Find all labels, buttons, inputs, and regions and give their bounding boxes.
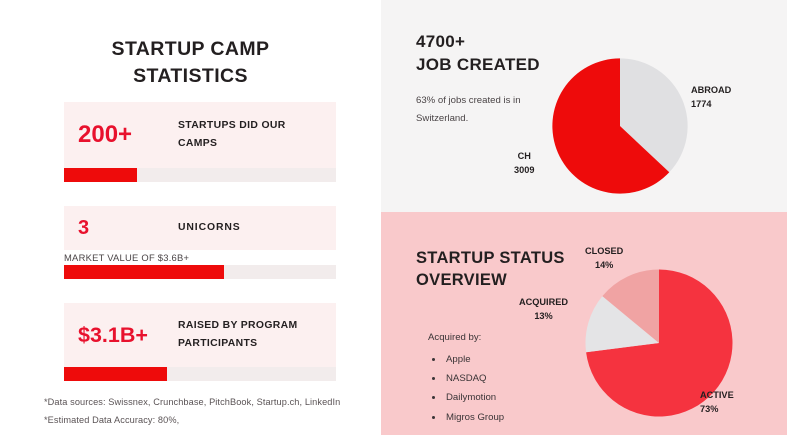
progress-fill-startups	[64, 168, 137, 182]
acquired-by-heading: Acquired by:	[428, 332, 481, 343]
pie-label-ch-name: CH	[514, 150, 534, 164]
page-title-line-2: STATISTICS	[0, 63, 381, 90]
startup-status-title-line-2: OVERVIEW	[416, 269, 565, 291]
startup-status-title: STARTUP STATUS OVERVIEW	[416, 247, 565, 292]
pie-svg-jobs	[551, 57, 689, 195]
progress-track-raised	[64, 367, 336, 381]
pie-label-acquired-value: 13%	[519, 310, 568, 324]
pie-label-acquired-name: ACQUIRED	[519, 296, 568, 310]
infographic-canvas: STARTUP CAMP STATISTICS 200+ STARTUPS DI…	[0, 0, 787, 435]
progress-fill-raised	[64, 367, 167, 381]
jobs-created-count: 4700+	[416, 31, 540, 54]
acquired-by-item: Apple	[444, 350, 504, 369]
pie-label-abroad-value: 1774	[691, 98, 731, 112]
progress-track-startups	[64, 168, 336, 182]
startup-status-title-line-1: STARTUP STATUS	[416, 247, 565, 269]
page-title: STARTUP CAMP STATISTICS	[0, 36, 381, 90]
pie-label-closed-name: CLOSED	[585, 245, 623, 259]
jobs-created-pie-chart	[551, 57, 689, 195]
left-panel: STARTUP CAMP STATISTICS 200+ STARTUPS DI…	[0, 0, 381, 435]
pie-label-ch: CH 3009	[514, 150, 534, 178]
acquired-by-item: Migros Group	[444, 408, 504, 427]
stat-value-startups: 200+	[78, 122, 178, 147]
acquired-by-item: Dailymotion	[444, 388, 504, 407]
stat-value-raised: $3.1B+	[78, 324, 178, 347]
stat-value-unicorns: 3	[78, 218, 178, 239]
stat-label-unicorns: UNICORNS	[178, 219, 241, 237]
pie-label-closed-value: 14%	[585, 259, 623, 273]
pie-label-closed: CLOSED 14%	[585, 245, 623, 273]
stat-card-startups: 200+ STARTUPS DID OUR CAMPS	[64, 102, 336, 168]
acquired-by-item: NASDAQ	[444, 369, 504, 388]
footnote-data-sources: *Data sources: Swissnex, Crunchbase, Pit…	[44, 394, 340, 412]
acquired-by-list: AppleNASDAQDailymotionMigros Group	[428, 350, 504, 427]
jobs-created-description: 63% of jobs created is in Switzerland.	[416, 92, 551, 127]
progress-fill-unicorns	[64, 265, 224, 279]
jobs-created-headline: 4700+ JOB CREATED	[416, 31, 540, 77]
page-title-line-1: STARTUP CAMP	[0, 36, 381, 63]
pie-label-acquired: ACQUIRED 13%	[519, 296, 568, 324]
pie-label-active-value: 73%	[700, 403, 734, 417]
stat-card-raised: $3.1B+ RAISED BY PROGRAM PARTICIPANTS	[64, 303, 336, 367]
stat-subnote-market-value: MARKET VALUE OF $3.6B+	[64, 252, 189, 263]
stat-label-raised: RAISED BY PROGRAM PARTICIPANTS	[178, 317, 328, 353]
stat-label-startups: STARTUPS DID OUR CAMPS	[178, 117, 328, 153]
pie-label-abroad: ABROAD 1774	[691, 84, 731, 112]
pie-label-active: ACTIVE 73%	[700, 389, 734, 417]
pie-label-active-name: ACTIVE	[700, 389, 734, 403]
stat-card-unicorns: 3 UNICORNS	[64, 206, 336, 250]
pie-label-ch-value: 3009	[514, 164, 534, 178]
pie-label-abroad-name: ABROAD	[691, 84, 731, 98]
footnote-accuracy: *Estimated Data Accuracy: 80%,	[44, 412, 340, 430]
footnotes: *Data sources: Swissnex, Crunchbase, Pit…	[44, 394, 340, 430]
progress-track-unicorns	[64, 265, 336, 279]
jobs-created-subject: JOB CREATED	[416, 54, 540, 77]
